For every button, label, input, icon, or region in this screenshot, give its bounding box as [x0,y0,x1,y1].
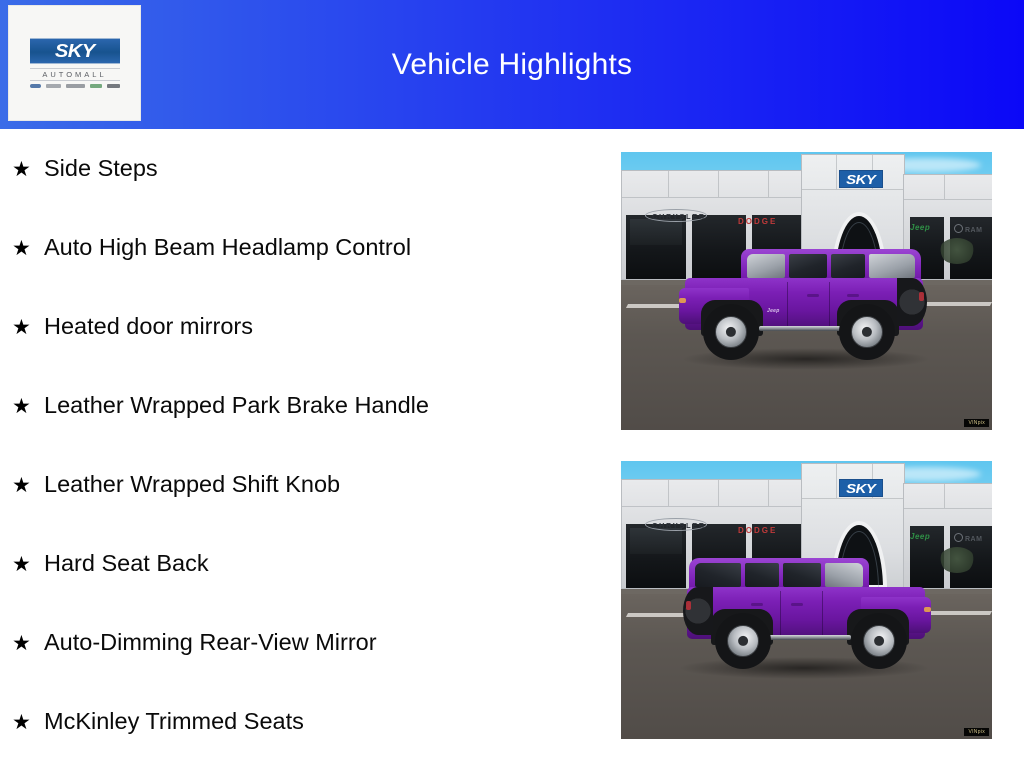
list-item-label: Heated door mirrors [44,314,253,340]
list-item: ★ Hard Seat Back [0,551,600,630]
sky-logo-text: SKY [55,42,95,60]
list-item-label: Leather Wrapped Park Brake Handle [44,393,429,419]
sky-sign-text: SKY [846,481,875,496]
star-icon: ★ [12,238,44,259]
ram-badge-icon [954,533,963,542]
sign-chrysler: CHRYSLER [652,522,706,530]
logo-inner: SKY AUTOMALL [29,38,121,89]
door-seam [822,591,823,637]
spare-tire [897,278,927,326]
star-icon: ★ [12,475,44,496]
photo-watermark: VINpix [964,419,989,428]
rear-door-window [745,563,779,587]
front-wheel-rim [863,625,895,657]
rear-wheel-rim [851,316,883,348]
side-step [767,635,851,640]
front-wheel-rim [715,316,747,348]
spare-tire [683,587,713,635]
jeep-badge-text: Jeep [767,308,780,314]
brand-logo-strip [30,84,120,88]
sky-dealership-sign: SKY [839,170,883,188]
sign-ram: RAM [965,536,982,543]
vehicle-highlights-list: ★ Side Steps ★ Auto High Beam Headlamp C… [0,129,600,768]
sign-ram: RAM [965,227,982,234]
side-step [759,326,843,331]
tree-shape [939,547,975,573]
front-marker-lamp [679,298,686,303]
chrysler-brand-icon [46,84,61,88]
sky-logo-mark: SKY [30,38,120,64]
list-item-label: Leather Wrapped Shift Knob [44,472,340,498]
vehicle-photo-driver-side: CHRYSLER DODGE SKY Jeep RAM [621,152,992,430]
page-title: Vehicle Highlights [0,0,1024,129]
sign-chrysler: CHRYSLER [652,213,706,221]
jeep-brand-icon [90,84,102,88]
tail-lamp [686,601,691,610]
door-handle [847,294,859,297]
star-icon: ★ [12,159,44,180]
door-handle [751,603,763,606]
rear-door-window [831,254,865,278]
front-marker-lamp [924,607,931,612]
list-item-label: McKinley Trimmed Seats [44,709,304,735]
list-item: ★ Side Steps [0,156,600,235]
rear-quarter-window [869,254,915,278]
tail-lamp [919,292,924,301]
vehicle-jeep-wrangler: Jeep [675,248,935,368]
windshield [747,254,785,278]
ram-badge-icon [954,224,963,233]
star-icon: ★ [12,633,44,654]
list-item: ★ Auto-Dimming Rear-View Mirror [0,630,600,709]
door-handle [807,294,819,297]
star-icon: ★ [12,317,44,338]
star-icon: ★ [12,396,44,417]
star-icon: ★ [12,712,44,733]
list-item: ★ Heated door mirrors [0,314,600,393]
list-item: ★ McKinley Trimmed Seats [0,709,600,768]
front-door-window [783,563,821,587]
rear-quarter-window [695,563,741,587]
sign-jeep: Jeep [910,224,930,232]
vehicle-photo-passenger-side: CHRYSLER DODGE SKY Jeep RAM [621,461,992,739]
slide-root: Vehicle Highlights SKY AUTOMALL ★ Side S… [0,0,1024,768]
door-seam [829,282,830,328]
door-seam [780,591,781,637]
front-door-window [789,254,827,278]
automall-subtitle: AUTOMALL [30,68,120,82]
windshield [825,563,863,587]
star-icon: ★ [12,554,44,575]
list-item-label: Auto-Dimming Rear-View Mirror [44,630,377,656]
dealer-logo-card: SKY AUTOMALL [8,5,141,121]
sign-jeep: Jeep [910,533,930,541]
rear-wheel-rim [727,625,759,657]
sky-sign-text: SKY [846,172,875,187]
ford-brand-icon [30,84,41,88]
sign-dodge: DODGE [738,218,777,226]
door-handle [791,603,803,606]
sign-dodge: DODGE [738,527,777,535]
dodge-brand-icon [66,84,85,88]
list-item: ★ Leather Wrapped Park Brake Handle [0,393,600,472]
vehicle-jeep-wrangler [675,557,935,677]
tree-shape [939,238,975,264]
list-item: ★ Auto High Beam Headlamp Control [0,235,600,314]
ram-brand-icon [107,84,120,88]
door-seam [787,282,788,328]
list-item-label: Auto High Beam Headlamp Control [44,235,411,261]
list-item: ★ Leather Wrapped Shift Knob [0,472,600,551]
list-item-label: Side Steps [44,156,158,182]
slide-header: Vehicle Highlights [0,0,1024,129]
sky-dealership-sign: SKY [839,479,883,497]
list-item-label: Hard Seat Back [44,551,209,577]
photo-watermark: VINpix [964,728,989,737]
